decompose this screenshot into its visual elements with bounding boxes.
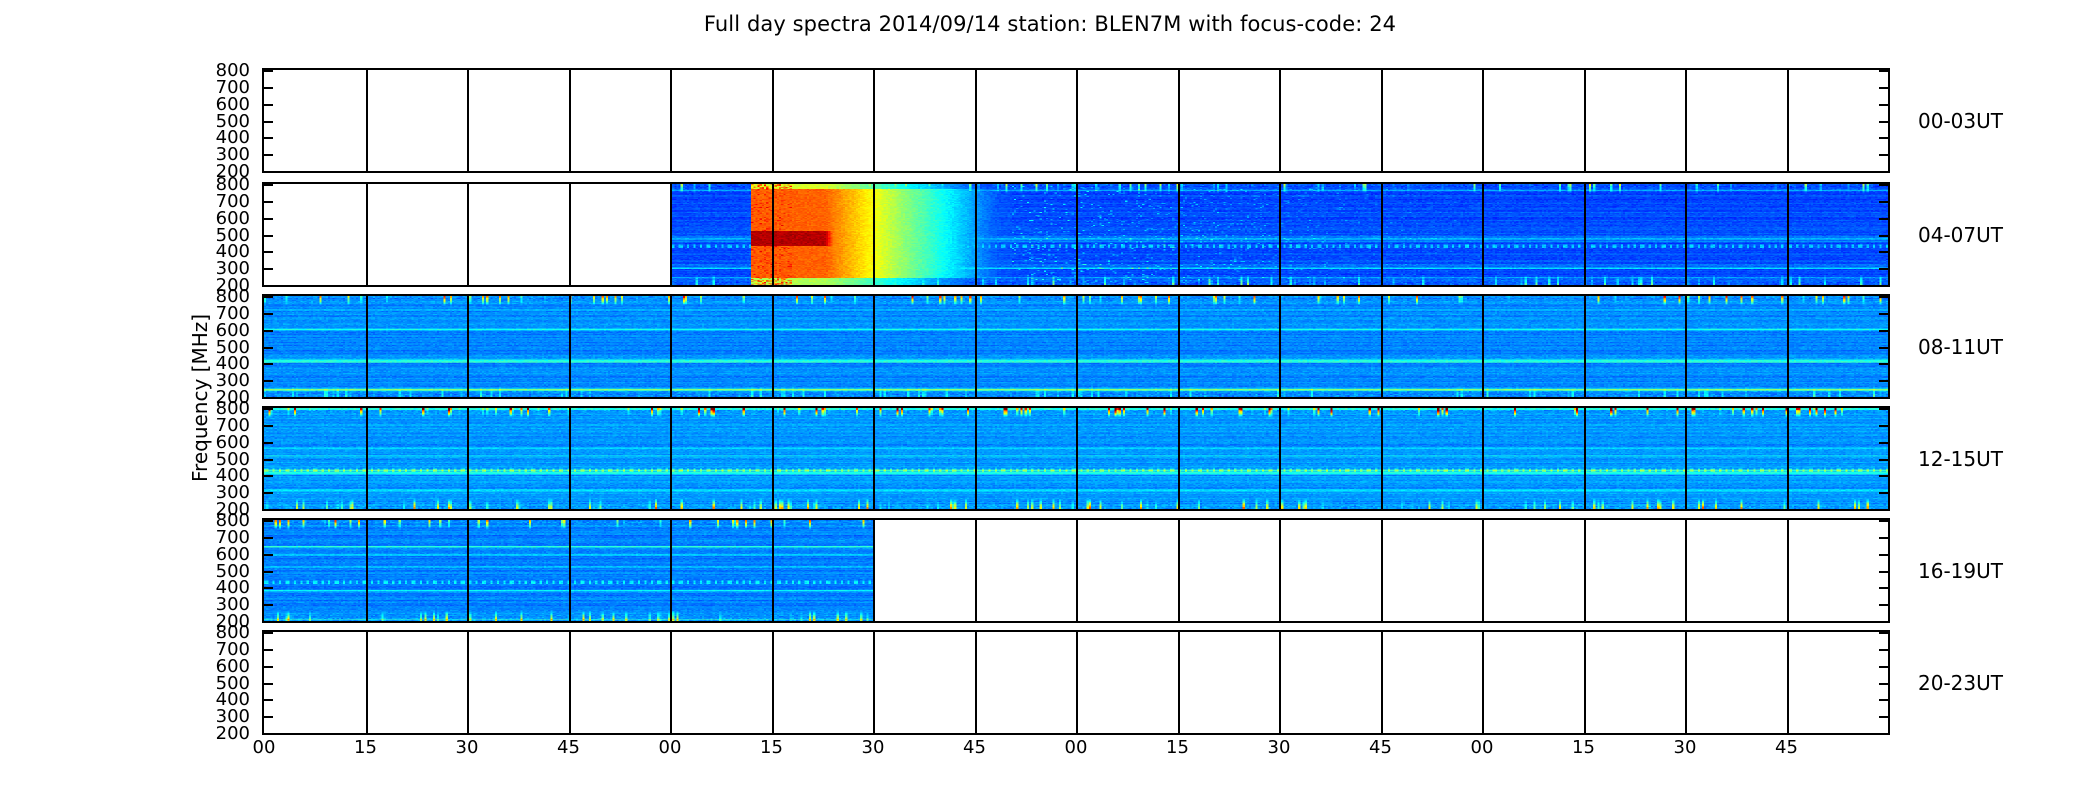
y-tick-mark — [264, 492, 273, 494]
x-gridline — [366, 184, 368, 285]
x-gridline — [670, 70, 672, 171]
y-tick-mark — [264, 604, 273, 606]
x-gridline — [1279, 520, 1281, 621]
y-tick-mark — [264, 268, 273, 270]
y-tick-mark — [264, 475, 273, 477]
y-tick-mark — [264, 87, 273, 89]
x-gridline — [467, 408, 469, 509]
x-gridline — [1482, 520, 1484, 621]
x-gridline — [873, 184, 875, 285]
x-gridline — [772, 70, 774, 171]
y-tick-mark — [1879, 621, 1888, 623]
y-tick-mark — [264, 70, 273, 72]
y-tick-mark — [1879, 171, 1888, 173]
x-gridline — [670, 296, 672, 397]
y-tick-mark — [1879, 313, 1888, 315]
y-tick-mark — [264, 520, 273, 522]
y-tick-mark — [1879, 201, 1888, 203]
row-label-16-19ut: 16-19UT — [1918, 559, 2003, 583]
y-tick-mark — [264, 733, 273, 735]
x-gridline — [1787, 632, 1789, 733]
y-tick-mark — [1879, 554, 1888, 556]
x-gridline — [873, 520, 875, 621]
y-tick-mark — [1879, 268, 1888, 270]
y-tick-mark — [264, 537, 273, 539]
x-gridline — [1076, 632, 1078, 733]
x-gridline — [366, 296, 368, 397]
y-tick-mark — [264, 397, 273, 399]
x-gridline — [1381, 632, 1383, 733]
x-gridline — [975, 296, 977, 397]
x-gridline — [1584, 408, 1586, 509]
x-gridline — [1178, 296, 1180, 397]
y-tick-mark — [264, 509, 273, 511]
x-gridline — [1685, 408, 1687, 509]
y-tick-mark — [1879, 104, 1888, 106]
x-gridline — [772, 632, 774, 733]
x-gridline — [569, 408, 571, 509]
y-tick-mark — [264, 184, 273, 186]
x-gridline — [1076, 296, 1078, 397]
x-gridline — [1178, 184, 1180, 285]
y-tick-mark — [1879, 509, 1888, 511]
y-tick-mark — [264, 104, 273, 106]
figure-title: Full day spectra 2014/09/14 station: BLE… — [0, 12, 2100, 36]
x-tick-label: 00 — [1460, 737, 1504, 758]
x-gridline — [1787, 184, 1789, 285]
x-gridline — [467, 70, 469, 171]
x-gridline — [1584, 296, 1586, 397]
x-gridline — [873, 408, 875, 509]
x-gridline — [873, 296, 875, 397]
y-tick-mark — [264, 621, 273, 623]
x-tick-label: 45 — [953, 737, 997, 758]
x-gridline — [1685, 296, 1687, 397]
x-gridline — [873, 70, 875, 171]
x-gridline — [1584, 632, 1586, 733]
x-gridline — [569, 70, 571, 171]
row-label-12-15ut: 12-15UT — [1918, 447, 2003, 471]
y-tick-mark — [264, 442, 273, 444]
x-gridline — [1279, 70, 1281, 171]
x-gridline — [975, 520, 977, 621]
x-gridline — [873, 632, 875, 733]
x-tick-label: 00 — [1054, 737, 1098, 758]
row-label-20-23ut: 20-23UT — [1918, 671, 2003, 695]
y-tick-mark — [1879, 285, 1888, 287]
y-tick-mark — [264, 408, 273, 410]
x-gridline — [1482, 70, 1484, 171]
y-tick-mark — [1879, 632, 1888, 634]
y-tick-mark — [1879, 137, 1888, 139]
x-gridline — [1279, 296, 1281, 397]
y-tick-mark — [264, 201, 273, 203]
y-tick-mark — [1879, 397, 1888, 399]
x-gridline — [1584, 520, 1586, 621]
y-tick-mark — [264, 137, 273, 139]
x-gridline — [1482, 184, 1484, 285]
y-tick-mark — [264, 425, 273, 427]
x-gridline — [670, 184, 672, 285]
spectrogram-figure: Full day spectra 2014/09/14 station: BLE… — [0, 0, 2100, 800]
y-tick-mark — [1879, 716, 1888, 718]
x-gridline — [569, 632, 571, 733]
x-gridline — [467, 632, 469, 733]
x-gridline — [772, 296, 774, 397]
spectrogram-panel-16-19ut[interactable] — [262, 518, 1890, 623]
x-tick-label: 45 — [1359, 737, 1403, 758]
y-tick-mark — [1879, 184, 1888, 186]
x-gridline — [1381, 408, 1383, 509]
x-gridline — [1787, 520, 1789, 621]
x-gridline — [1787, 296, 1789, 397]
y-tick-mark — [1879, 121, 1888, 123]
x-gridline — [1279, 632, 1281, 733]
y-tick-mark — [264, 683, 273, 685]
y-tick-mark — [264, 171, 273, 173]
spectrogram-panel-12-15ut[interactable] — [262, 406, 1890, 511]
y-tick-mark — [264, 632, 273, 634]
x-gridline — [569, 184, 571, 285]
x-gridline — [772, 520, 774, 621]
y-tick-label: 200 — [0, 723, 250, 744]
x-gridline — [1685, 632, 1687, 733]
y-tick-mark — [264, 699, 273, 701]
y-tick-mark — [1879, 459, 1888, 461]
x-gridline — [467, 296, 469, 397]
x-tick-label: 15 — [1562, 737, 1606, 758]
y-tick-mark — [1879, 649, 1888, 651]
x-gridline — [1178, 520, 1180, 621]
x-tick-label: 15 — [344, 737, 388, 758]
x-gridline — [1178, 70, 1180, 171]
x-gridline — [467, 184, 469, 285]
x-tick-label: 15 — [1156, 737, 1200, 758]
y-tick-mark — [1879, 347, 1888, 349]
y-tick-mark — [1879, 70, 1888, 72]
y-tick-mark — [264, 313, 273, 315]
x-gridline — [1685, 70, 1687, 171]
spectrogram-panel-00-03ut[interactable] — [262, 68, 1890, 173]
y-tick-mark — [1879, 154, 1888, 156]
x-gridline — [1787, 408, 1789, 509]
x-gridline — [1381, 520, 1383, 621]
x-tick-label: 00 — [648, 737, 692, 758]
x-tick-label: 30 — [1663, 737, 1707, 758]
y-tick-mark — [264, 285, 273, 287]
x-tick-label: 15 — [750, 737, 794, 758]
y-tick-mark — [264, 154, 273, 156]
y-tick-mark — [1879, 733, 1888, 735]
x-gridline — [366, 520, 368, 621]
spectrogram-panel-08-11ut[interactable] — [262, 294, 1890, 399]
x-gridline — [1381, 296, 1383, 397]
x-gridline — [1178, 632, 1180, 733]
x-gridline — [975, 632, 977, 733]
y-tick-mark — [1879, 571, 1888, 573]
y-tick-mark — [1879, 683, 1888, 685]
x-gridline — [366, 70, 368, 171]
y-tick-mark — [264, 296, 273, 298]
x-gridline — [1076, 520, 1078, 621]
spectrogram-panel-04-07ut[interactable] — [262, 182, 1890, 287]
x-tick-label: 30 — [445, 737, 489, 758]
y-tick-mark — [264, 251, 273, 253]
y-tick-mark — [1879, 218, 1888, 220]
y-tick-mark — [264, 459, 273, 461]
y-tick-mark — [264, 363, 273, 365]
y-tick-mark — [1879, 235, 1888, 237]
y-tick-mark — [1879, 475, 1888, 477]
y-tick-mark — [1879, 587, 1888, 589]
x-gridline — [772, 184, 774, 285]
x-gridline — [569, 520, 571, 621]
x-gridline — [1381, 70, 1383, 171]
x-gridline — [1482, 408, 1484, 509]
x-gridline — [366, 632, 368, 733]
x-gridline — [1584, 70, 1586, 171]
x-gridline — [670, 408, 672, 509]
y-tick-mark — [264, 716, 273, 718]
x-gridline — [1076, 70, 1078, 171]
x-gridline — [1482, 632, 1484, 733]
x-gridline — [1076, 184, 1078, 285]
y-tick-mark — [264, 571, 273, 573]
x-gridline — [1178, 408, 1180, 509]
y-tick-mark — [1879, 330, 1888, 332]
x-gridline — [670, 632, 672, 733]
y-tick-mark — [1879, 537, 1888, 539]
y-tick-mark — [264, 121, 273, 123]
x-gridline — [1787, 70, 1789, 171]
y-tick-mark — [264, 554, 273, 556]
row-label-08-11ut: 08-11UT — [1918, 335, 2003, 359]
y-tick-mark — [1879, 492, 1888, 494]
spectrogram-panel-20-23ut[interactable] — [262, 630, 1890, 735]
y-tick-mark — [264, 235, 273, 237]
x-gridline — [975, 184, 977, 285]
row-label-04-07ut: 04-07UT — [1918, 223, 2003, 247]
x-tick-label: 45 — [1765, 737, 1809, 758]
x-tick-label: 30 — [851, 737, 895, 758]
y-tick-mark — [264, 330, 273, 332]
x-gridline — [1685, 520, 1687, 621]
y-tick-mark — [1879, 699, 1888, 701]
y-tick-mark — [264, 649, 273, 651]
y-tick-mark — [264, 347, 273, 349]
y-tick-mark — [1879, 87, 1888, 89]
x-gridline — [366, 408, 368, 509]
y-tick-mark — [264, 587, 273, 589]
x-gridline — [670, 520, 672, 621]
y-tick-mark — [1879, 520, 1888, 522]
y-tick-mark — [1879, 408, 1888, 410]
x-gridline — [467, 520, 469, 621]
x-gridline — [975, 408, 977, 509]
y-tick-mark — [1879, 425, 1888, 427]
y-tick-mark — [1879, 380, 1888, 382]
x-tick-label: 30 — [1257, 737, 1301, 758]
y-tick-mark — [264, 380, 273, 382]
x-gridline — [1381, 184, 1383, 285]
y-tick-mark — [264, 218, 273, 220]
y-tick-mark — [1879, 442, 1888, 444]
y-tick-mark — [1879, 363, 1888, 365]
y-tick-mark — [1879, 296, 1888, 298]
y-tick-mark — [264, 666, 273, 668]
x-gridline — [1685, 184, 1687, 285]
x-gridline — [1482, 296, 1484, 397]
x-tick-label: 45 — [547, 737, 591, 758]
x-gridline — [569, 296, 571, 397]
x-gridline — [1076, 408, 1078, 509]
x-gridline — [772, 408, 774, 509]
x-gridline — [1584, 184, 1586, 285]
x-gridline — [1279, 184, 1281, 285]
row-label-00-03ut: 00-03UT — [1918, 109, 2003, 133]
y-tick-mark — [1879, 666, 1888, 668]
x-gridline — [975, 70, 977, 171]
y-tick-mark — [1879, 604, 1888, 606]
x-gridline — [1279, 408, 1281, 509]
y-tick-mark — [1879, 251, 1888, 253]
